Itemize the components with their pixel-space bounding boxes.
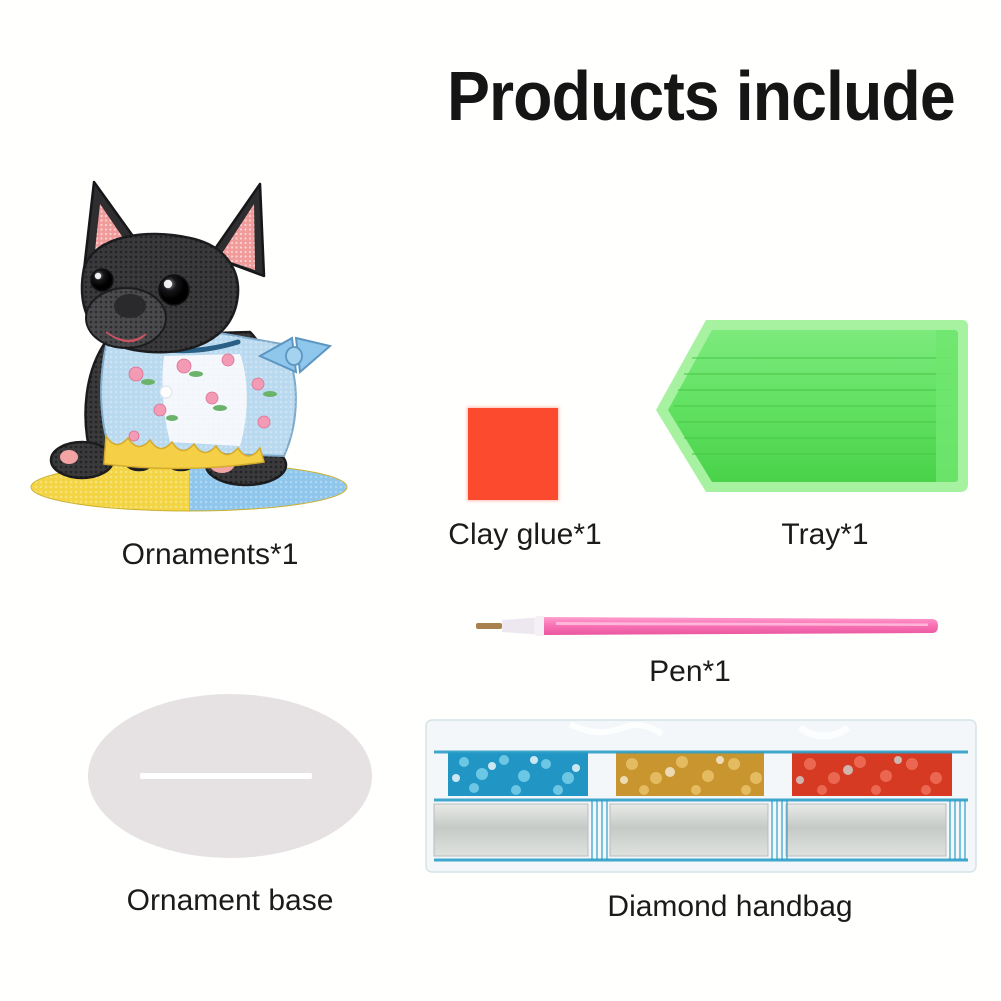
diamond-handbag-label: Diamond handbag: [540, 890, 920, 924]
ornament-base-label: Ornament base: [40, 884, 420, 918]
clay-glue-label: Clay glue*1: [340, 518, 710, 552]
dog-head: [82, 234, 238, 352]
ornament-base-slot: [140, 773, 312, 779]
compartment-red: [792, 752, 952, 796]
product-contents-page: Products include: [0, 0, 1001, 1001]
pen-image: [470, 608, 940, 644]
compartment-gold: [616, 752, 764, 796]
page-title: Products include: [447, 57, 948, 135]
diamond-handbag-image: [420, 716, 982, 876]
ornament-base-image: [88, 694, 372, 858]
compartment-blue: [448, 752, 588, 796]
pen-label: Pen*1: [560, 655, 820, 689]
dog-dress: [101, 332, 330, 469]
clay-glue-image: [468, 408, 558, 500]
ornaments-image: [14, 160, 364, 520]
tray-label: Tray*1: [660, 518, 990, 552]
tray-image: [652, 312, 970, 504]
